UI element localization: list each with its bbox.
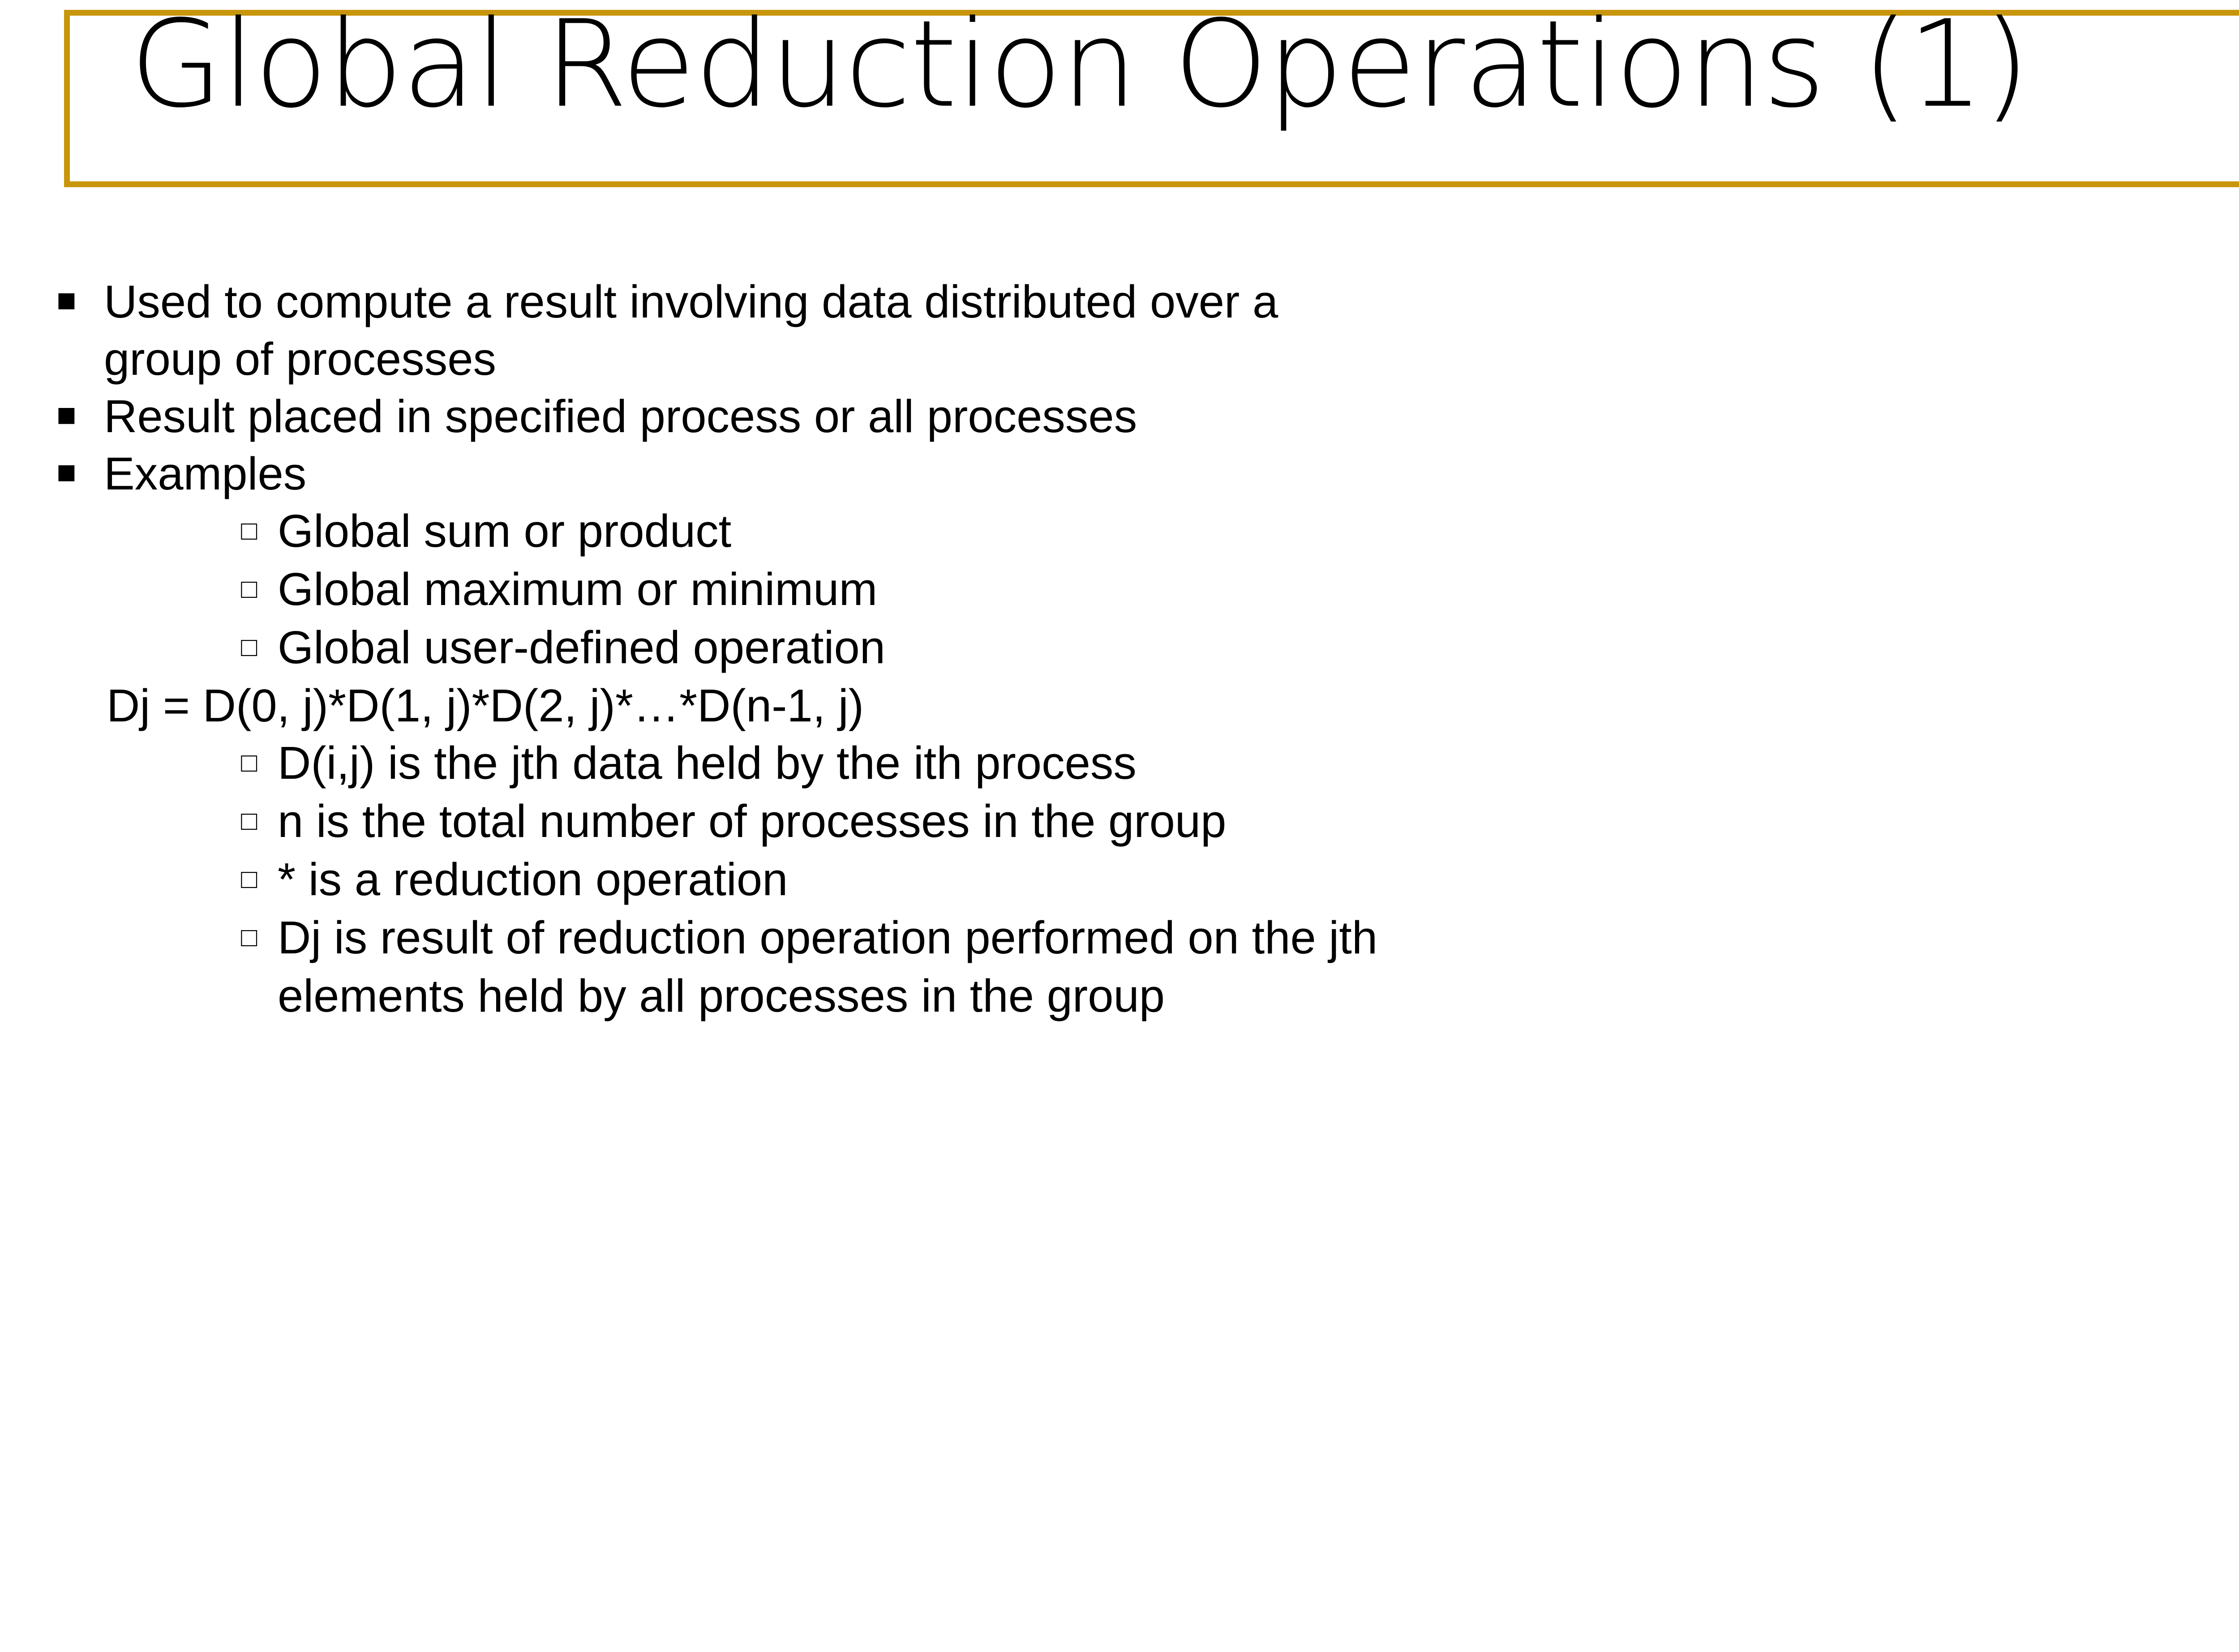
bullet-item: □* is a reduction operation — [0, 851, 2239, 909]
hollow-square-bullet-icon: □ — [241, 624, 278, 670]
filled-square-bullet-icon: ■ — [56, 391, 104, 438]
hollow-square-bullet-icon: □ — [241, 914, 278, 960]
hollow-square-bullet-icon: □ — [241, 566, 278, 612]
bullet-item: □n is the total number of processes in t… — [0, 793, 2239, 851]
filled-square-bullet-icon: ■ — [56, 277, 104, 323]
bullet-text: Used to compute a result involving data … — [104, 276, 1278, 327]
bullet-text: Dj = D(0, j)*D(1, j)*D(2, j)*…*D(n-1, j) — [107, 680, 864, 731]
bullet-item: □Dj is result of reduction operation per… — [0, 909, 2239, 967]
bullet-item: □D(i,j) is the jth data held by the ith … — [0, 734, 2239, 793]
bullet-item: ■Result placed in specified process or a… — [0, 388, 2239, 445]
bullet-continuation-line: elements held by all processes in the gr… — [0, 967, 2239, 1025]
bullet-continuation-line: Dj = D(0, j)*D(1, j)*D(2, j)*…*D(n-1, j) — [0, 677, 2239, 734]
hollow-square-bullet-icon: □ — [241, 507, 278, 554]
bullet-continuation-line: group of processes — [0, 330, 2239, 388]
bullet-text: Dj is result of reduction operation perf… — [278, 912, 1377, 963]
bullet-text: Global user-defined operation — [278, 622, 885, 673]
page-title: Global Reduction Operations (1) — [130, 4, 2239, 124]
hollow-square-bullet-icon: □ — [241, 739, 278, 785]
hollow-square-bullet-icon: □ — [241, 856, 278, 902]
bullet-text: Global maximum or minimum — [278, 563, 877, 615]
bullet-text: * is a reduction operation — [278, 854, 788, 905]
bullet-item: □Global maximum or minimum — [0, 561, 2239, 619]
bullet-text: Examples — [104, 448, 306, 499]
bullet-item: ■Examples — [0, 445, 2239, 502]
bullet-item: □Global user-defined operation — [0, 619, 2239, 677]
bullet-text: D(i,j) is the jth data held by the ith p… — [278, 737, 1137, 789]
slide-body: ■Used to compute a result involving data… — [0, 273, 2239, 1025]
bullet-text: elements held by all processes in the gr… — [278, 970, 1165, 1021]
bullet-text: Result placed in specified process or al… — [104, 390, 1137, 442]
slide-canvas: Global Reduction Operations (1) ■Used to… — [0, 0, 2239, 1652]
bullet-item: □Global sum or product — [0, 502, 2239, 561]
filled-square-bullet-icon: ■ — [56, 449, 104, 495]
bullet-text: n is the total number of processes in th… — [278, 795, 1226, 847]
bullet-text: group of processes — [104, 333, 496, 385]
bullet-text: Global sum or product — [278, 505, 731, 557]
hollow-square-bullet-icon: □ — [241, 798, 278, 844]
bullet-item: ■Used to compute a result involving data… — [0, 273, 2239, 330]
